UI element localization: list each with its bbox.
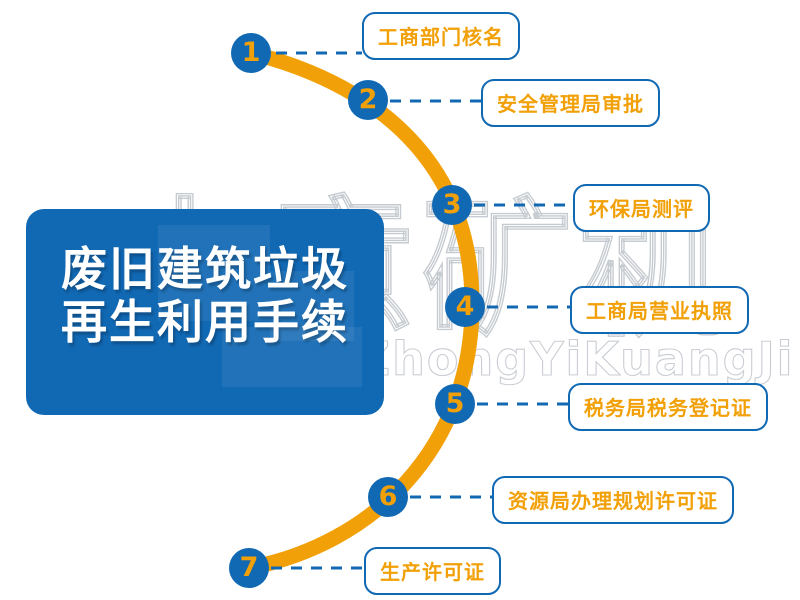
step-label-4[interactable]: 工商局营业执照 (570, 286, 749, 334)
step-node-6[interactable]: 6 (368, 477, 408, 517)
infographic-canvas: 中意矿机 ZOONYE ZhongYiKuangJi 废旧建筑垃圾 再生利用手续… (0, 0, 800, 600)
step-node-1[interactable]: 1 (231, 33, 271, 73)
step-label-3[interactable]: 环保局测评 (573, 184, 710, 232)
step-node-5[interactable]: 5 (435, 384, 475, 424)
step-node-2[interactable]: 2 (348, 80, 388, 120)
step-label-1[interactable]: 工商部门核名 (362, 12, 520, 60)
step-node-7[interactable]: 7 (229, 548, 269, 588)
step-label-7[interactable]: 生产许可证 (364, 547, 501, 595)
step-label-2[interactable]: 安全管理局审批 (481, 79, 660, 127)
step-node-4[interactable]: 4 (445, 287, 485, 327)
flow-arc-path (249, 53, 472, 568)
step-node-3[interactable]: 3 (432, 185, 472, 225)
step-label-5[interactable]: 税务局税务登记证 (568, 383, 768, 431)
step-label-6[interactable]: 资源局办理规划许可证 (492, 476, 734, 524)
